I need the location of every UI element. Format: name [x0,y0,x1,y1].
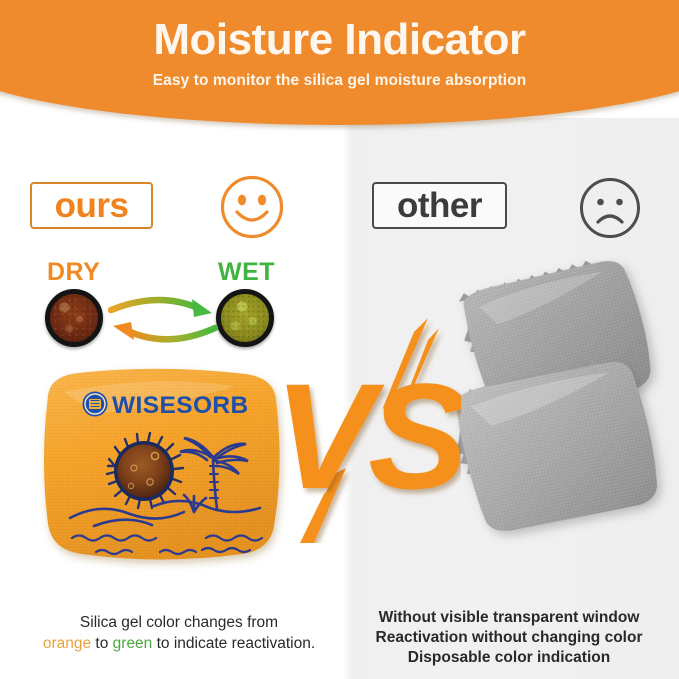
right-caption: Without visible transparent window React… [348,608,670,668]
other-label-text: other [397,188,482,223]
keyword-green: green [113,635,153,652]
gray-bag-front [442,352,665,543]
right-caption-line3: Disposable color indication [348,648,670,668]
page-title: Moisture Indicator [0,16,679,64]
dry-silica-sample [45,289,103,347]
ours-label-text: ours [55,188,129,223]
curved-arrow-right-icon [111,299,212,317]
caption-post: to indicate reactivation. [152,635,315,652]
sad-face-icon [578,176,642,240]
right-caption-line2: Reactivation without changing color [348,628,670,648]
header-banner: Moisture Indicator Easy to monitor the s… [0,0,679,125]
wet-label: WET [218,258,275,287]
wet-silica-sample [216,289,274,347]
caption-mid: to [91,635,113,652]
versus-text: VS [276,352,461,520]
other-label-box: other [372,182,507,229]
infographic-canvas: Moisture Indicator Easy to monitor the s… [0,0,679,679]
curved-arrow-left-icon [113,322,215,340]
page-subtitle: Easy to monitor the silica gel moisture … [0,72,679,90]
brand-name-text: WISESORB [112,392,249,419]
wisesorb-orange-bag: WISESORB [34,362,296,570]
versus-badge: VS [276,318,461,543]
left-caption-line1: Silica gel color changes from [18,612,340,633]
wisesorb-logo-icon [83,392,108,417]
smiley-face-icon [219,174,285,240]
right-caption-line1: Without visible transparent window [348,608,670,628]
color-change-cycle-arrows [108,292,218,348]
keyword-orange: orange [43,635,91,652]
left-caption-line2: orange to green to indicate reactivation… [18,633,340,654]
dry-label: DRY [47,258,100,287]
ours-label-box: ours [30,182,153,229]
left-caption: Silica gel color changes from orange to … [18,612,340,654]
